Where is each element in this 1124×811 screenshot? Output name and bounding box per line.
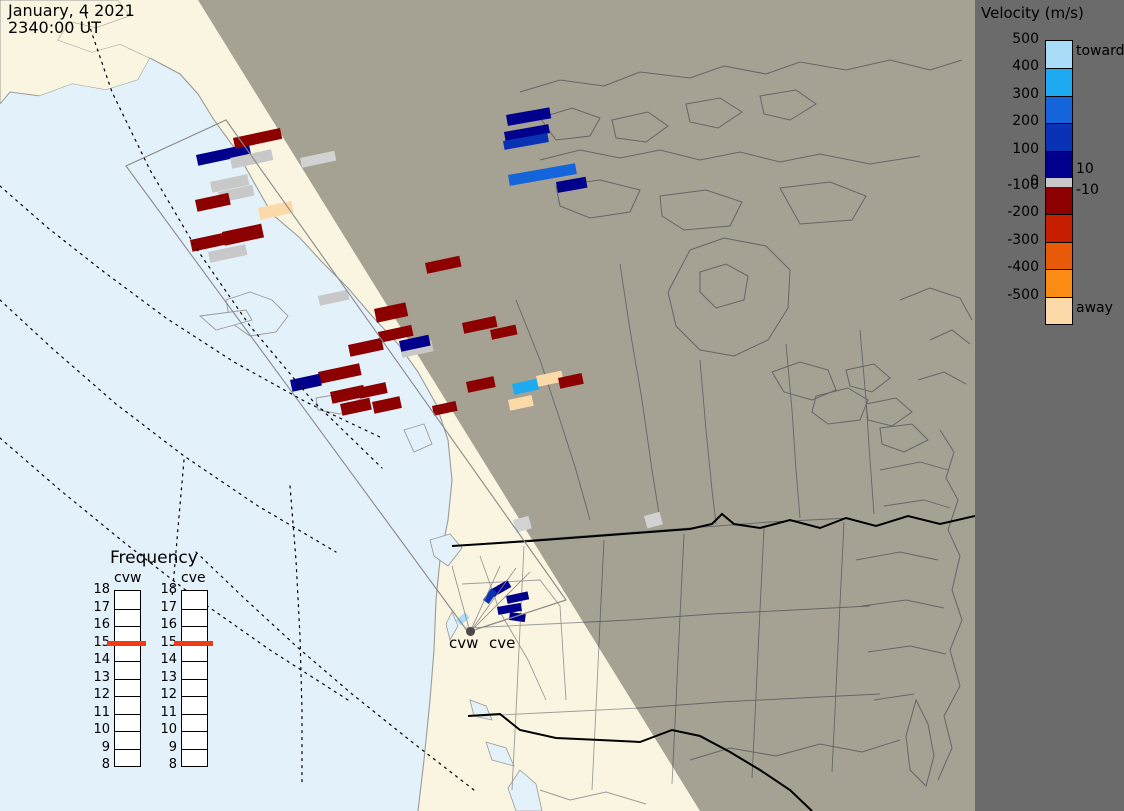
frequency-label-cve-18: 18: [153, 582, 177, 597]
frequency-label-cvw-17: 17: [86, 600, 110, 615]
velocity-threshold-negative-label: -10: [1076, 182, 1099, 198]
velocity-legend-title: Velocity (m/s): [981, 4, 1084, 22]
velocity-tick-400: 400: [1012, 58, 1039, 74]
frequency-label-cvw-13: 13: [86, 670, 110, 685]
frequency-tick-line: [182, 626, 207, 627]
frequency-tick-line: [115, 749, 140, 750]
frequency-column-title-cve: cve: [181, 570, 206, 586]
velocity-tick-100: 100: [1012, 141, 1039, 157]
frequency-label-cvw-10: 10: [86, 722, 110, 737]
frequency-label-cvw-14: 14: [86, 652, 110, 667]
velocity-swatch-away-4: [1046, 297, 1072, 324]
velocity-swatch-toward-1: [1046, 68, 1072, 95]
map-canvas[interactable]: January, 4 2021 2340:00 UT cvw cve Frequ…: [0, 0, 975, 811]
station-label-cvw: cvw: [449, 634, 478, 652]
velocity-legend: Velocity (m/s) 5004003002001000-100-200-…: [975, 0, 1124, 811]
velocity-swatch-toward-3: [1046, 123, 1072, 150]
frequency-tick-line: [115, 679, 140, 680]
frequency-tick-line: [115, 626, 140, 627]
velocity-band-separator: [1046, 269, 1072, 270]
velocity-tick-neg400: -400: [1007, 259, 1039, 275]
frequency-tick-line: [115, 714, 140, 715]
frequency-column-title-cvw: cvw: [114, 570, 141, 586]
frequency-tick-line: [182, 731, 207, 732]
frequency-tick-line: [182, 679, 207, 680]
frequency-marker-cvw: [107, 641, 146, 646]
velocity-tick-300: 300: [1012, 86, 1039, 102]
frequency-tick-line: [115, 661, 140, 662]
frequency-label-cvw-16: 16: [86, 617, 110, 632]
frequency-label-cve-14: 14: [153, 652, 177, 667]
superdarn-velocity-map: January, 4 2021 2340:00 UT cvw cve Frequ…: [0, 0, 1124, 811]
frequency-bar-cvw: [114, 590, 141, 767]
velocity-tick-500: 500: [1012, 31, 1039, 47]
frequency-label-cve-11: 11: [153, 705, 177, 720]
station-label-cve: cve: [489, 634, 515, 652]
velocity-swatch-away-0: [1046, 187, 1072, 214]
timestamp-block: January, 4 2021 2340:00 UT: [8, 2, 135, 36]
velocity-swatch-toward-4: [1046, 151, 1072, 178]
map-geography: [0, 0, 975, 811]
velocity-away-label: away: [1076, 300, 1113, 316]
velocity-swatch-away-3: [1046, 269, 1072, 296]
velocity-swatch-ground-scatter: [1046, 178, 1072, 187]
velocity-band-separator: [1046, 123, 1072, 124]
velocity-tick-neg500: -500: [1007, 287, 1039, 303]
velocity-toward-label: toward: [1076, 43, 1124, 59]
velocity-band-separator: [1046, 242, 1072, 243]
frequency-tick-line: [115, 731, 140, 732]
velocity-tick-neg300: -300: [1007, 232, 1039, 248]
velocity-tick-neg200: -200: [1007, 204, 1039, 220]
frequency-label-cve-10: 10: [153, 722, 177, 737]
frequency-label-cve-16: 16: [153, 617, 177, 632]
frequency-tick-line: [182, 749, 207, 750]
frequency-label-cve-9: 9: [153, 740, 177, 755]
velocity-threshold-positive-label: 10: [1076, 161, 1094, 177]
velocity-band-separator: [1046, 214, 1072, 215]
velocity-swatch-away-1: [1046, 214, 1072, 241]
frequency-label-cve-12: 12: [153, 687, 177, 702]
velocity-swatch-toward-0: [1046, 41, 1072, 68]
frequency-label-cvw-11: 11: [86, 705, 110, 720]
frequency-tick-line: [115, 696, 140, 697]
frequency-label-cvw-8: 8: [86, 757, 110, 772]
frequency-tick-line: [115, 609, 140, 610]
frequency-legend-title: Frequency: [110, 548, 198, 568]
velocity-band-separator: [1046, 96, 1072, 97]
frequency-marker-cve: [174, 641, 213, 646]
frequency-label-cve-8: 8: [153, 757, 177, 772]
velocity-swatch-away-2: [1046, 242, 1072, 269]
frequency-label-cve-13: 13: [153, 670, 177, 685]
frequency-label-cvw-12: 12: [86, 687, 110, 702]
velocity-tick-neg100: -100: [1007, 177, 1039, 193]
velocity-band-separator: [1046, 68, 1072, 69]
frequency-tick-line: [182, 661, 207, 662]
frequency-tick-line: [182, 609, 207, 610]
frequency-tick-line: [182, 696, 207, 697]
velocity-colorbar: [1045, 40, 1073, 325]
velocity-band-separator: [1046, 151, 1072, 152]
time-label: 2340:00 UT: [8, 18, 101, 37]
frequency-label-cvw-9: 9: [86, 740, 110, 755]
velocity-band-separator: [1046, 297, 1072, 298]
velocity-tick-200: 200: [1012, 113, 1039, 129]
frequency-label-cvw-18: 18: [86, 582, 110, 597]
frequency-tick-line: [182, 714, 207, 715]
frequency-label-cve-17: 17: [153, 600, 177, 615]
velocity-swatch-toward-2: [1046, 96, 1072, 123]
frequency-bar-cve: [181, 590, 208, 767]
